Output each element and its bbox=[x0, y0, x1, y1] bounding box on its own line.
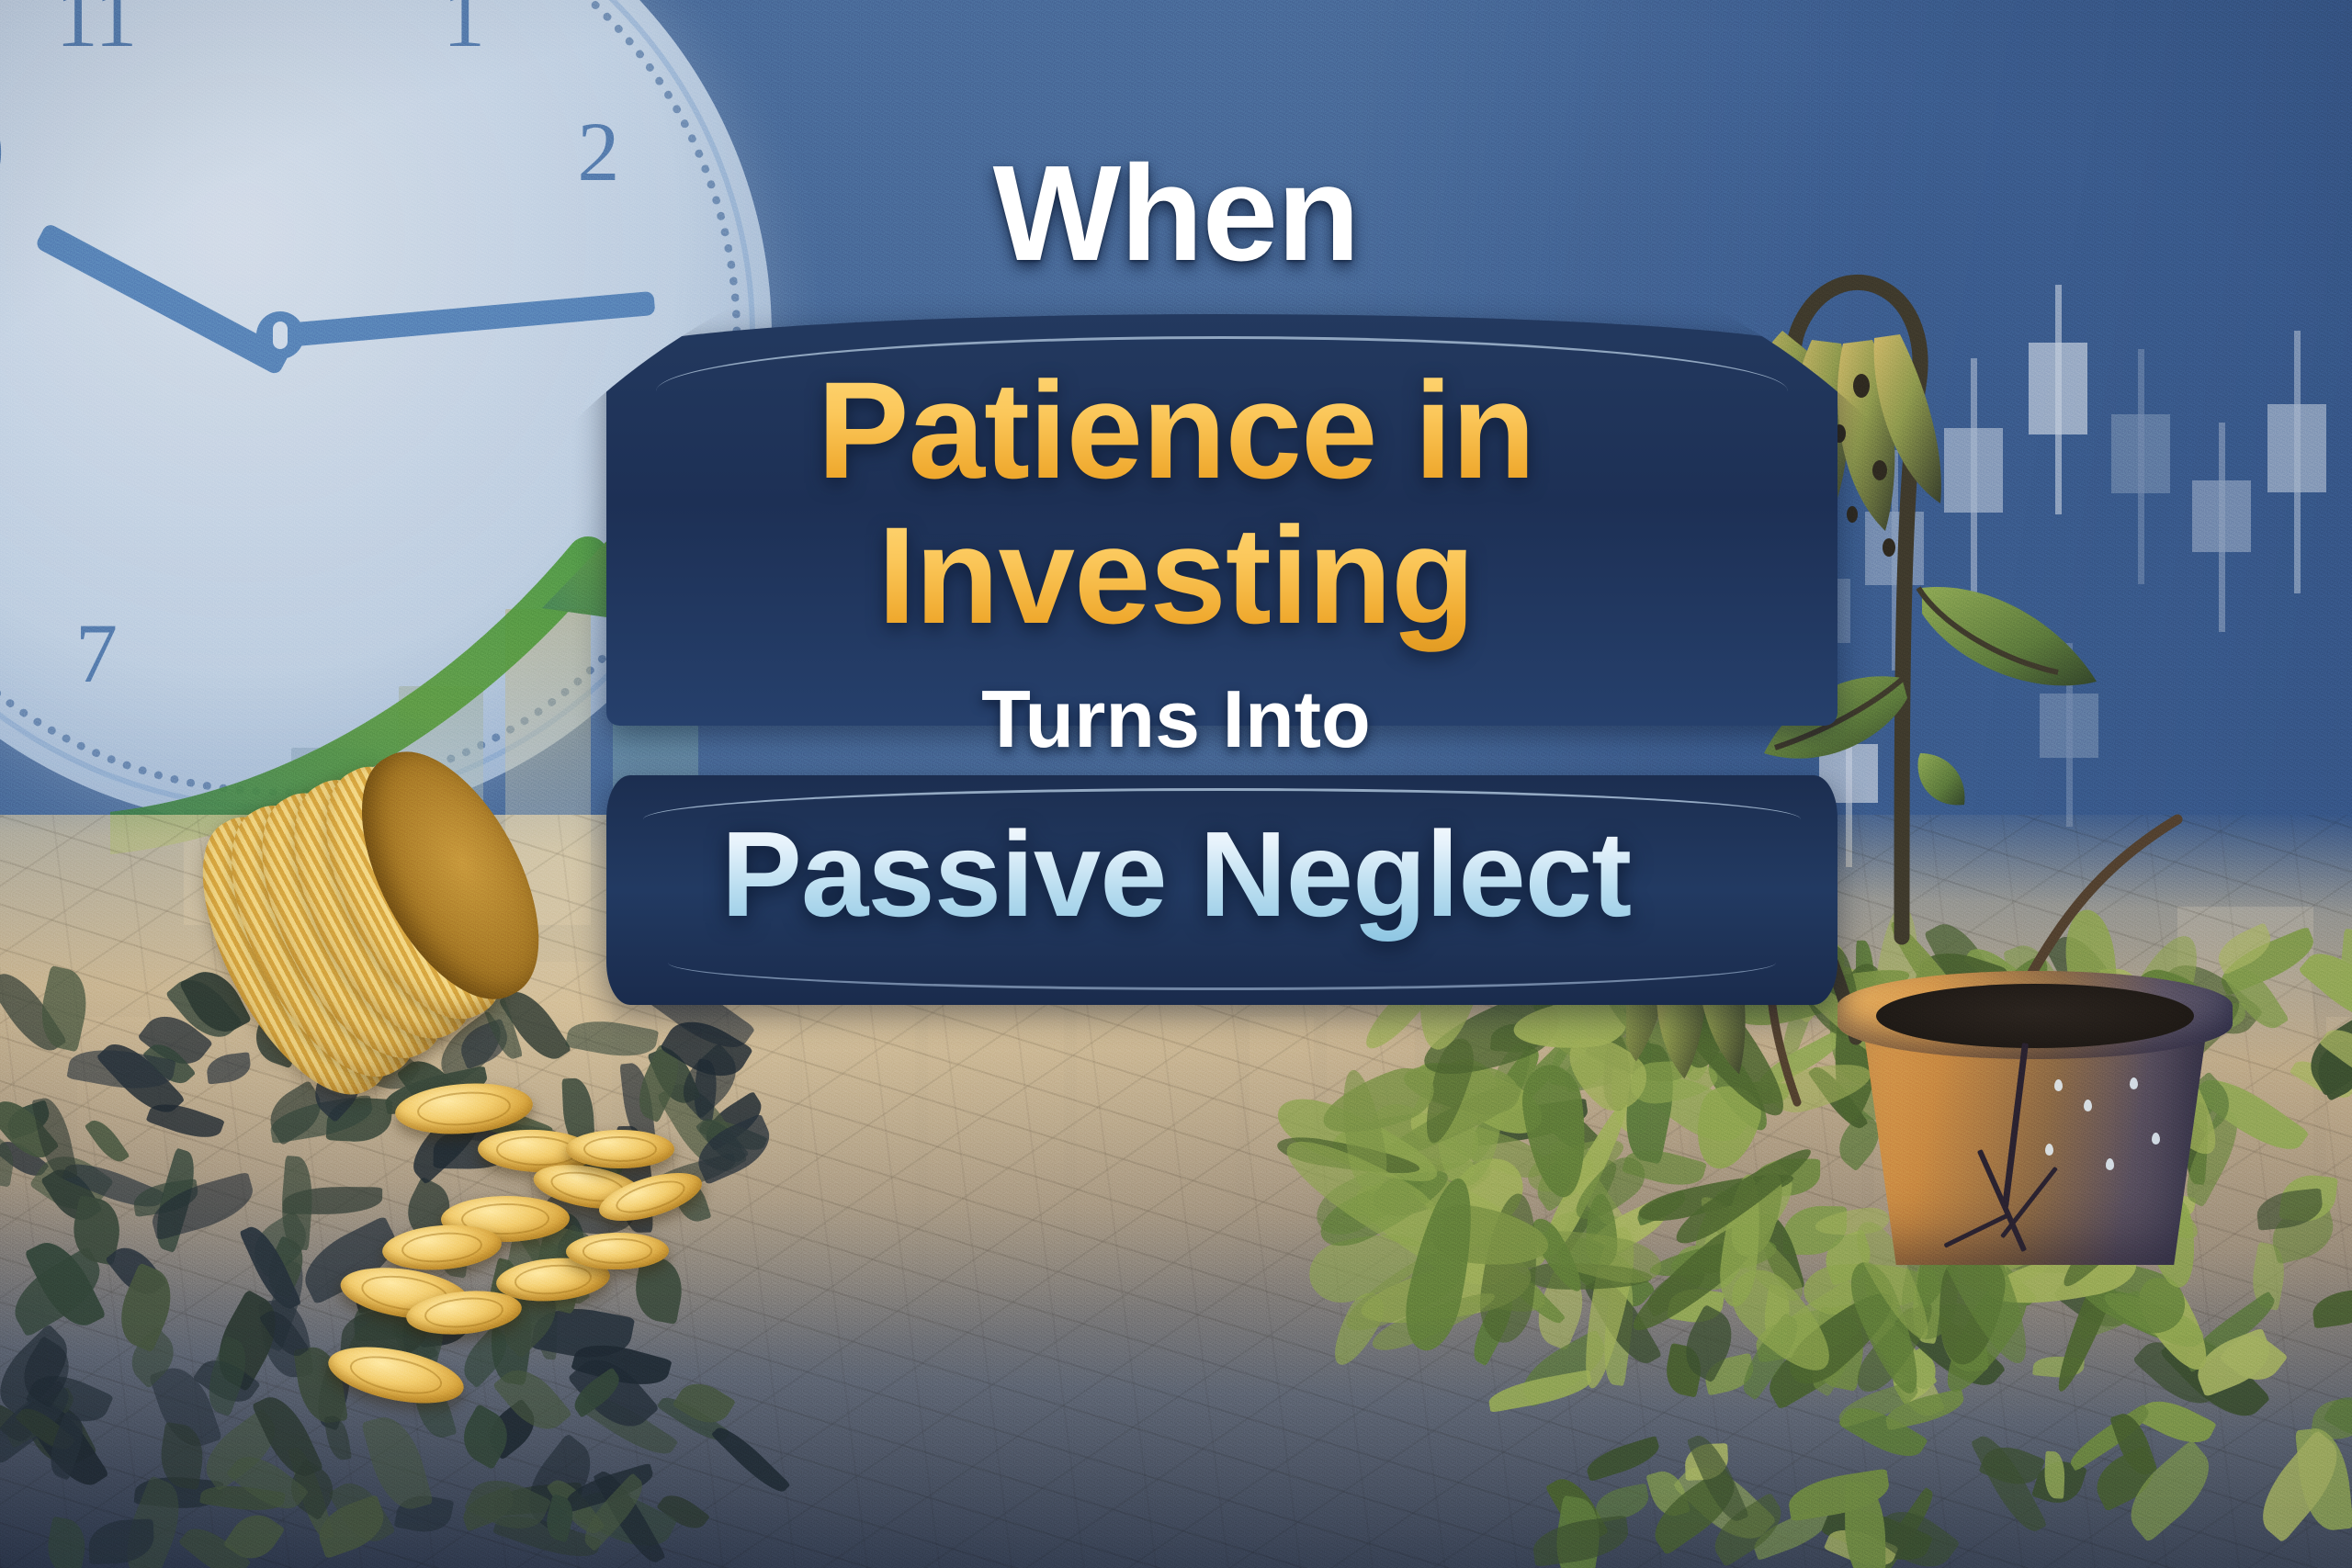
headline-line-when: When bbox=[0, 136, 2352, 292]
banner-lower-arc-bottom bbox=[668, 963, 1776, 990]
weed-leaf bbox=[2311, 1287, 2352, 1328]
gold-coin bbox=[323, 1337, 469, 1413]
clock-numeral-1: 1 bbox=[409, 0, 519, 73]
gold-coin bbox=[380, 1221, 503, 1274]
headline-line-turns-into: Turns Into bbox=[0, 672, 2352, 766]
poster-canvas: 78910111212 bbox=[0, 0, 2352, 1568]
dark-leaf bbox=[42, 1517, 89, 1568]
gold-coin bbox=[566, 1130, 674, 1168]
clock-numeral-12: 12 bbox=[225, 0, 335, 23]
gold-coin bbox=[393, 1079, 534, 1139]
clock-numeral-11: 11 bbox=[41, 0, 152, 73]
title-block: When Patience in Investing Turns Into Pa… bbox=[0, 110, 2352, 1029]
gold-coin bbox=[566, 1232, 669, 1269]
dark-leaf bbox=[85, 1114, 130, 1168]
headline-line-patience-in: Patience in bbox=[0, 351, 2352, 510]
weed-leaf bbox=[1530, 1515, 1631, 1566]
headline-line-passive-neglect: Passive Neglect bbox=[0, 805, 2352, 943]
headline-line-investing: Investing bbox=[0, 496, 2352, 655]
